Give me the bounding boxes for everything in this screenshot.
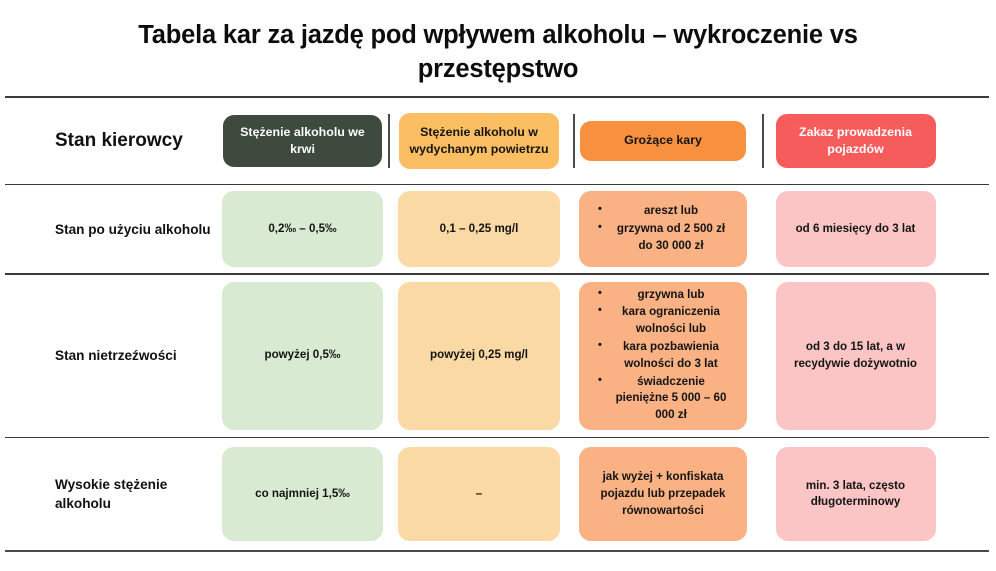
header-divider-1 — [388, 114, 390, 168]
ban-value: min. 3 lata, często długoterminowy — [776, 447, 936, 541]
row-penalty-cell: areszt lub grzywna od 2 500 zł do 30 000… — [568, 191, 758, 267]
page-title: Tabela kar za jazdę pod wpływem alkoholu… — [60, 18, 936, 86]
penalty-list: grzywna lub kara ograniczenia wolności l… — [588, 287, 738, 425]
row-breath-cell: 0,1 – 0,25 mg/l — [390, 191, 568, 267]
infographic-page: Tabela kar za jazdę pod wpływem alkoholu… — [0, 0, 996, 571]
row-state-label: Stan nietrzeźwości — [55, 346, 215, 365]
penalty-value: grzywna lub kara ograniczenia wolności l… — [579, 282, 747, 430]
row-ban-cell: od 6 miesięcy do 3 lat — [758, 191, 953, 267]
penalty-value: jak wyżej + konfiskata pojazdu lub przep… — [579, 447, 747, 541]
header-pill-blood: Stężenie alkoholu we krwi — [223, 115, 382, 167]
breath-value: 0,1 – 0,25 mg/l — [398, 191, 560, 267]
row-ban-cell: min. 3 lata, często długoterminowy — [758, 447, 953, 541]
blood-value: 0,2‰ – 0,5‰ — [222, 191, 383, 267]
header-pill-breath: Stężenie alkoholu w wydychanym powietrzu — [399, 113, 559, 169]
row-state-cell: Stan nietrzeźwości — [5, 346, 215, 365]
list-item: kara pozbawienia wolności do 3 lat — [592, 339, 736, 373]
list-item: areszt lub — [592, 203, 736, 220]
header-divider-3 — [762, 114, 764, 168]
blood-value: co najmniej 1,5‰ — [222, 447, 383, 541]
row-blood-cell: 0,2‰ – 0,5‰ — [215, 191, 390, 267]
header-breath-cell: Stężenie alkoholu w wydychanym powietrzu — [390, 113, 568, 169]
list-item: grzywna lub — [592, 287, 736, 304]
penalty-value: areszt lub grzywna od 2 500 zł do 30 000… — [579, 191, 747, 267]
row-blood-cell: co najmniej 1,5‰ — [215, 447, 390, 541]
header-state-label: Stan kierowcy — [55, 128, 215, 153]
list-item: świadczenie pieniężne 5 000 – 60 000 zł — [592, 374, 736, 424]
breath-value: – — [398, 447, 560, 541]
ban-value: od 6 miesięcy do 3 lat — [776, 191, 936, 267]
header-divider-2 — [573, 114, 575, 168]
row-penalty-cell: grzywna lub kara ograniczenia wolności l… — [568, 282, 758, 430]
row-breath-cell: – — [390, 447, 568, 541]
breath-value: powyżej 0,25 mg/l — [398, 282, 560, 430]
blood-value: powyżej 0,5‰ — [222, 282, 383, 430]
penalties-table: Stan kierowcy Stężenie alkoholu we krwi … — [5, 96, 989, 552]
penalty-list: areszt lub grzywna od 2 500 zł do 30 000… — [588, 203, 738, 255]
header-blood-cell: Stężenie alkoholu we krwi — [215, 115, 390, 167]
header-pill-ban: Zakaz prowadzenia pojazdów — [776, 114, 936, 168]
table-bottom-rule — [5, 550, 989, 551]
list-item: grzywna od 2 500 zł do 30 000 zł — [592, 221, 736, 255]
row-state-label: Stan po użyciu alkoholu — [55, 220, 215, 239]
header-pill-penalty: Grożące kary — [580, 121, 746, 161]
row-penalty-cell: jak wyżej + konfiskata pojazdu lub przep… — [568, 447, 758, 541]
row-ban-cell: od 3 do 15 lat, a w recydywie dożywotnio — [758, 282, 953, 430]
table-row: Stan po użyciu alkoholu 0,2‰ – 0,5‰ 0,1 … — [5, 185, 989, 273]
list-item: kara ograniczenia wolności lub — [592, 304, 736, 338]
row-state-label: Wysokie stężenie alkoholu — [55, 475, 215, 514]
table-row: Wysokie stężenie alkoholu co najmniej 1,… — [5, 438, 989, 550]
header-penalty-cell: Grożące kary — [568, 121, 758, 161]
table-row: Stan nietrzeźwości powyżej 0,5‰ powyżej … — [5, 275, 989, 437]
row-state-cell: Stan po użyciu alkoholu — [5, 220, 215, 239]
row-state-cell: Wysokie stężenie alkoholu — [5, 475, 215, 514]
table-header-row: Stan kierowcy Stężenie alkoholu we krwi … — [5, 98, 989, 184]
header-ban-cell: Zakaz prowadzenia pojazdów — [758, 114, 953, 168]
header-state-cell: Stan kierowcy — [5, 128, 215, 153]
row-breath-cell: powyżej 0,25 mg/l — [390, 282, 568, 430]
ban-value: od 3 do 15 lat, a w recydywie dożywotnio — [776, 282, 936, 430]
row-blood-cell: powyżej 0,5‰ — [215, 282, 390, 430]
